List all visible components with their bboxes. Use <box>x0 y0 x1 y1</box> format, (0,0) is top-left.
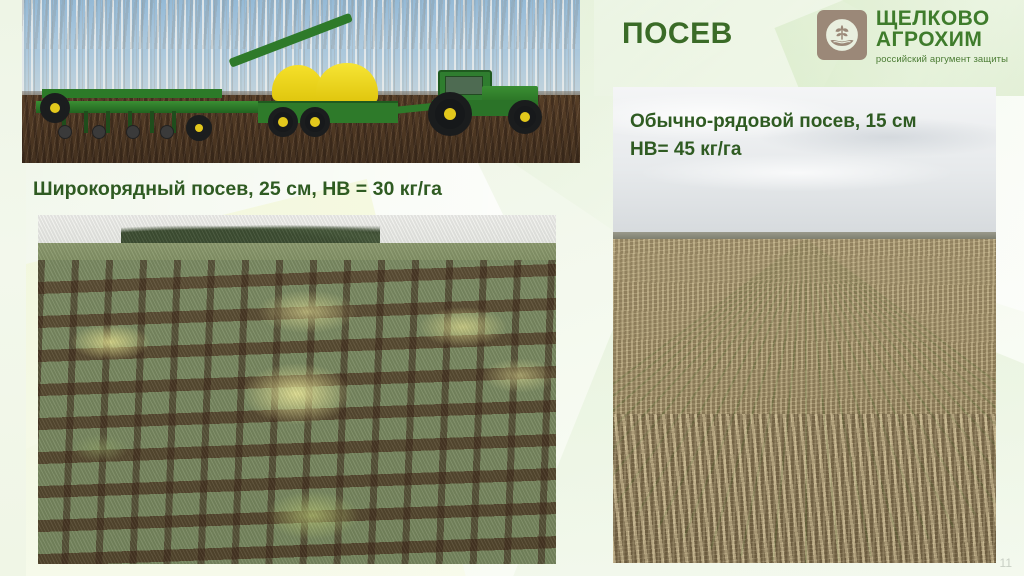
page-title: ПОСЕВ <box>622 17 733 51</box>
brand-tagline: российский аргумент защиты <box>876 54 1008 65</box>
photo-field <box>613 239 996 563</box>
photo-tree-crowns <box>22 0 580 49</box>
brand-lockup: ЩЕЛКОВО АГРОХИМ российский аргумент защи… <box>817 8 1008 65</box>
brand-name-line1: ЩЕЛКОВО <box>876 8 1008 29</box>
photo-stubble-foreground <box>613 414 996 563</box>
photo-texture-overlay <box>38 215 556 564</box>
caption-narrow-row: Обычно-рядовой посев, 15 см НВ= 45 кг/га <box>630 108 917 163</box>
caption-wide-row: Широкорядный посев, 25 см, НВ = 30 кг/га <box>33 178 442 201</box>
photo-tractor <box>426 70 544 136</box>
page-number: 11 <box>1000 556 1012 570</box>
brand-text: ЩЕЛКОВО АГРОХИМ российский аргумент защи… <box>876 8 1008 65</box>
slide-canvas: ПОСЕВ ЩЕЛКОВО АГРОХИМ росс <box>0 0 1024 576</box>
photo-tractor-seeder <box>22 0 580 163</box>
brand-name-line2: АГРОХИМ <box>876 29 1008 50</box>
caption-narrow-row-line2: НВ= 45 кг/га <box>630 136 917 164</box>
photo-air-seeder-cart <box>254 63 402 137</box>
photo-cultivator <box>36 81 262 141</box>
leaf-in-hands-logo-icon <box>817 10 867 60</box>
photo-wide-row-field <box>38 215 556 564</box>
caption-narrow-row-line1: Обычно-рядовой посев, 15 см <box>630 108 917 136</box>
